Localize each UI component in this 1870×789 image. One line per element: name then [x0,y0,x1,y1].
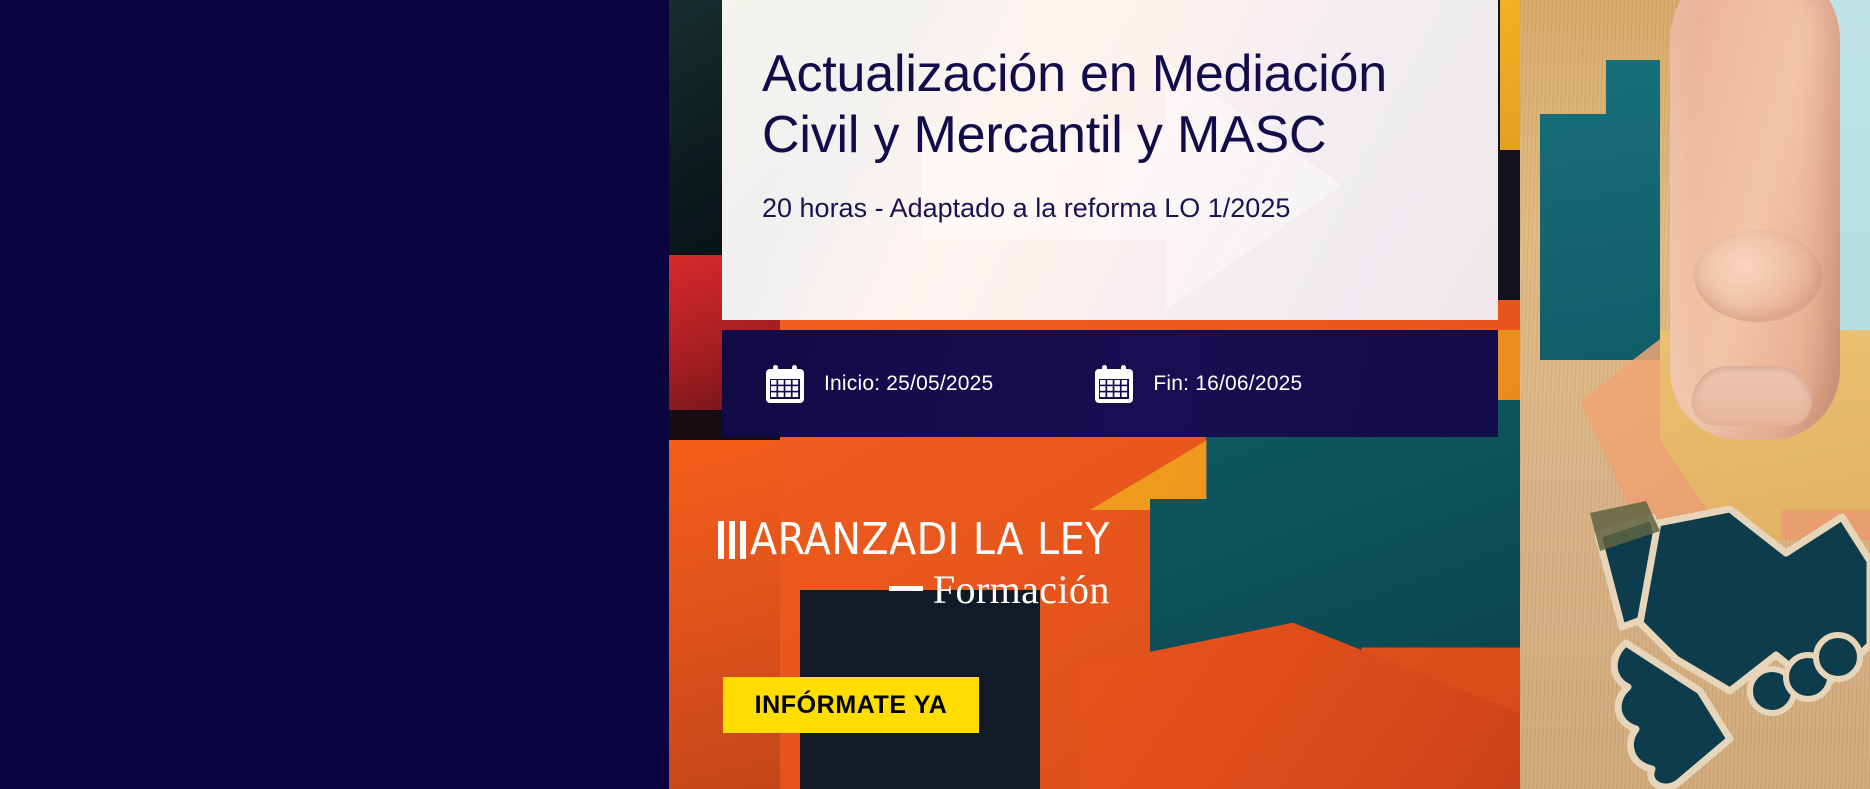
title-card: Actualización en Mediación Civil y Merca… [722,0,1498,320]
informate-ya-button[interactable]: INFÓRMATE YA [723,677,979,733]
handshake-icon [1580,495,1870,789]
calendar-icon [1093,363,1135,405]
brand-primary-row: ARANZADI LA LEY [718,518,1110,562]
finger-knuckle-shading [1694,230,1822,322]
brand-secondary-row: Formación [718,570,1110,610]
finger-pressing-image [1670,0,1840,440]
brand-subtitle: Formación [933,570,1110,610]
promo-banner: Actualización en Mediación Civil y Merca… [0,0,1870,789]
end-date-item: Fin: 16/06/2025 [1093,363,1302,405]
start-date-label: Inicio: 25/05/2025 [824,372,993,396]
start-date-item: Inicio: 25/05/2025 [764,363,993,405]
title-text-wrapper: Actualización en Mediación Civil y Merca… [722,0,1498,225]
brand-dash-icon [889,586,923,591]
end-date-label: Fin: 16/06/2025 [1153,372,1302,396]
dates-bar: Inicio: 25/05/2025 [722,330,1498,437]
brand-logo: ARANZADI LA LEY Formación [718,518,1110,610]
course-subtitle: 20 horas - Adaptado a la reforma LO 1/20… [762,192,1458,226]
left-navy-panel [0,0,669,789]
three-bars-logo-icon [718,521,746,559]
page-title: Actualización en Mediación Civil y Merca… [762,44,1458,166]
brand-name: ARANZADI LA LEY [750,518,1110,562]
calendar-icon [764,363,806,405]
